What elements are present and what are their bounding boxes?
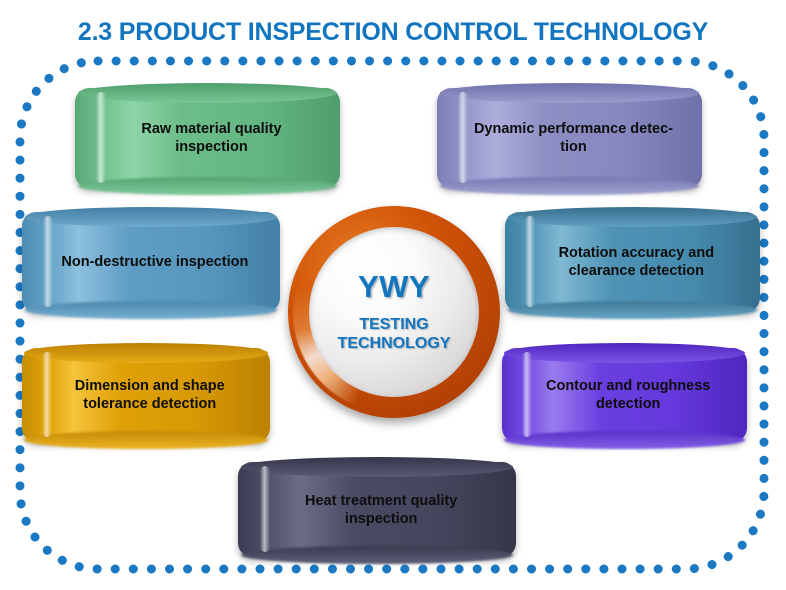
cylinder-top-cap [241, 457, 513, 477]
node-label: Raw material quality inspection [99, 120, 324, 156]
cylinder-bottom-cap [78, 177, 338, 195]
node-label-line2: inspection [99, 138, 324, 156]
node-label: Rotation accuracy and clearance detectio… [528, 244, 745, 280]
node-label-line2: inspection [263, 510, 499, 528]
cylinder-top-cap [78, 83, 338, 103]
node-label: Contour and roughness detection [524, 377, 732, 413]
node-label-line2: tion [461, 138, 686, 156]
node-rotation-accuracy-clearance-detection[interactable]: Rotation accuracy and clearance detectio… [505, 212, 760, 312]
cylinder-bottom-cap [25, 301, 278, 319]
node-label: Non-destructive inspection [45, 253, 264, 271]
node-dynamic-performance-detection[interactable]: Dynamic performance detec- tion [437, 88, 702, 188]
center-hub[interactable]: YWY TESTING TECHNOLOGY [288, 206, 500, 418]
page-title: 2.3 PRODUCT INSPECTION CONTROL TECHNOLOG… [0, 18, 786, 47]
node-label: Dynamic performance detec- tion [461, 120, 686, 156]
hub-subtitle-line2: TECHNOLOGY [338, 334, 451, 353]
node-label-line2: detection [524, 395, 732, 413]
node-label: Dimension and shape tolerance detection [44, 377, 255, 413]
cylinder-bottom-cap [24, 431, 267, 449]
hub-subtitle-line1: TESTING [338, 315, 451, 334]
node-label-line1: Non-destructive inspection [45, 253, 264, 271]
node-contour-roughness-detection[interactable]: Contour and roughness detection [502, 348, 747, 442]
node-label-line1: Contour and roughness [524, 377, 732, 395]
cylinder-top-cap [25, 207, 278, 227]
cylinder-top-cap [508, 207, 758, 227]
node-label: Heat treatment quality inspection [263, 491, 499, 527]
node-label-line1: Heat treatment quality [263, 491, 499, 509]
node-non-destructive-inspection[interactable]: Non-destructive inspection [22, 212, 280, 312]
cylinder-bottom-cap [241, 546, 513, 564]
hub-inner-disc: YWY TESTING TECHNOLOGY [309, 227, 479, 397]
cylinder-bottom-cap [440, 177, 700, 195]
node-label-line1: Raw material quality [99, 120, 324, 138]
hub-subtitle: TESTING TECHNOLOGY [338, 315, 451, 353]
hub-acronym: YWY [358, 271, 430, 302]
cylinder-top-cap [24, 343, 267, 363]
cylinder-bottom-cap [508, 301, 758, 319]
node-label-line1: Dimension and shape [44, 377, 255, 395]
node-label-line1: Rotation accuracy and [528, 244, 745, 262]
node-heat-treatment-quality-inspection[interactable]: Heat treatment quality inspection [238, 462, 516, 557]
cylinder-top-cap [440, 83, 700, 103]
node-label-line2: clearance detection [528, 262, 745, 280]
node-label-line2: tolerance detection [44, 395, 255, 413]
cylinder-bottom-cap [504, 431, 744, 449]
node-dimension-shape-tolerance-detection[interactable]: Dimension and shape tolerance detection [22, 348, 270, 442]
cylinder-top-cap [504, 343, 744, 363]
node-raw-material-quality-inspection[interactable]: Raw material quality inspection [75, 88, 340, 188]
node-label-line1: Dynamic performance detec- [461, 120, 686, 138]
